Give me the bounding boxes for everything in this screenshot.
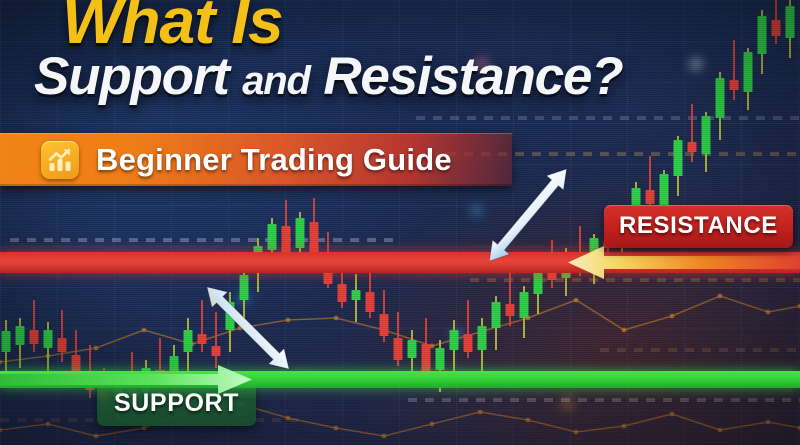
- bokeh-dot: [470, 204, 483, 217]
- candle: [184, 318, 193, 372]
- candle: [422, 318, 431, 378]
- resistance-label-badge: RESISTANCE: [604, 205, 793, 248]
- candle: [772, 0, 781, 44]
- candle: [394, 312, 403, 366]
- candle: [240, 268, 249, 322]
- candle: [352, 274, 361, 322]
- overlay-line-point: [430, 422, 435, 427]
- bokeh-dot: [560, 396, 575, 411]
- candle: [716, 72, 725, 140]
- overlay-line-point: [0, 428, 2, 433]
- overlay-line-point: [574, 430, 579, 435]
- support-line: [0, 371, 800, 388]
- overlay-line-point: [430, 344, 435, 349]
- resistance-label-text: RESISTANCE: [619, 212, 778, 239]
- candle: [198, 300, 207, 352]
- overlay-line-point: [334, 426, 339, 431]
- overlay-line-point: [478, 330, 483, 335]
- candle: [30, 300, 39, 352]
- overlay-line-point: [382, 434, 387, 439]
- candle: [506, 272, 515, 326]
- candle: [44, 322, 53, 372]
- resistance-line: [0, 252, 800, 273]
- bokeh-dot: [236, 290, 252, 306]
- overlay-line-point: [670, 412, 675, 417]
- overlay-line-point: [766, 420, 771, 425]
- dashed-reference-row: [408, 398, 800, 402]
- overlay-line-point: [478, 410, 483, 415]
- candle: [58, 310, 67, 362]
- candle: [366, 268, 375, 318]
- candle: [478, 318, 487, 372]
- overlay-line-point: [718, 428, 723, 433]
- candle: [520, 286, 529, 338]
- candle: [744, 48, 753, 110]
- overlay-line-point: [382, 328, 387, 333]
- overlay-line-point: [0, 360, 2, 365]
- bokeh-dot: [690, 58, 702, 70]
- overlay-line-point: [574, 298, 579, 303]
- overlay-line-point: [334, 316, 339, 321]
- dashed-reference-row: [600, 348, 800, 352]
- candle: [688, 104, 697, 162]
- overlay-line-point: [286, 318, 291, 323]
- candle: [730, 40, 739, 100]
- banner-label: Beginner Trading Guide: [96, 142, 452, 178]
- headline-word-and: and: [242, 59, 310, 103]
- candle: [16, 318, 25, 368]
- candle: [2, 320, 11, 375]
- overlay-line-point: [622, 424, 627, 429]
- chart-growth-icon: [41, 141, 79, 179]
- overlay-line-point: [94, 434, 99, 439]
- candle: [492, 296, 501, 350]
- candle: [702, 112, 711, 172]
- dashed-reference-row: [10, 238, 400, 242]
- overlay-line-point: [526, 316, 531, 321]
- overlay-line-point: [766, 310, 771, 315]
- bokeh-dot: [450, 328, 464, 342]
- overlay-line-point: [622, 328, 627, 333]
- overlay-line-point: [94, 346, 99, 351]
- candle: [212, 312, 221, 368]
- candle: [464, 300, 473, 358]
- candle: [226, 292, 235, 352]
- dashed-reference-row: [416, 116, 800, 120]
- overlay-line-point: [46, 422, 51, 427]
- headline-word-resistance: Resistance?: [323, 47, 622, 106]
- chart-growth-icon-glyph: [47, 147, 73, 173]
- orange-line-upper: [0, 296, 800, 362]
- overlay-line-point: [670, 314, 675, 319]
- overlay-line-point: [526, 418, 531, 423]
- downtrend-range-arrow: [199, 279, 297, 377]
- candle: [786, 0, 795, 58]
- dashed-reference-row: [470, 278, 800, 282]
- overlay-line-point: [142, 328, 147, 333]
- candle: [646, 156, 655, 212]
- candle: [674, 136, 683, 196]
- overlay-line-point: [190, 342, 195, 347]
- thumbnail-canvas: RESISTANCE SUPPORT What Is Support and R…: [0, 0, 800, 445]
- support-label-badge: SUPPORT: [97, 383, 256, 426]
- candle: [380, 290, 389, 342]
- candle: [450, 320, 459, 375]
- candle: [282, 200, 291, 256]
- overlay-line-point: [46, 354, 51, 359]
- headline-line-2: Support and Resistance?: [34, 46, 622, 107]
- beginner-guide-banner: Beginner Trading Guide: [0, 133, 512, 186]
- overlay-line-point: [238, 326, 243, 331]
- overlay-line-point: [142, 426, 147, 431]
- overlay-line-point: [718, 294, 723, 299]
- headline-word-support: Support: [34, 47, 229, 106]
- overlay-line-point: [286, 416, 291, 421]
- candle: [758, 10, 767, 74]
- support-label-text: SUPPORT: [114, 389, 239, 417]
